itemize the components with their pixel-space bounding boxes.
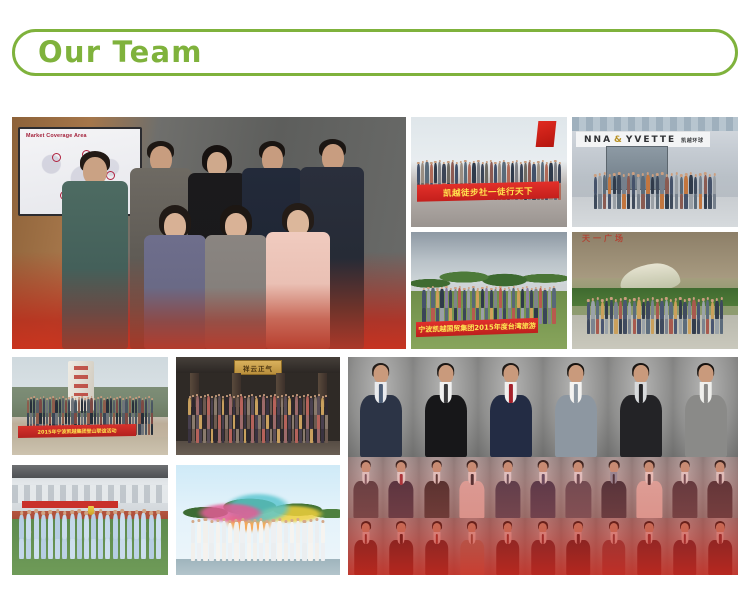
crowd-figure xyxy=(427,289,430,308)
crowd-figure xyxy=(199,398,202,415)
crowd-figure xyxy=(55,513,60,539)
crowd-figure-head xyxy=(321,520,324,524)
crowd-figure-head xyxy=(322,396,324,398)
crowd-figure-head xyxy=(237,395,239,397)
crowd-figure-head xyxy=(627,173,629,176)
crowd-figure-head xyxy=(503,160,505,163)
crowd-figure-head xyxy=(711,299,713,302)
crowd-figure-head xyxy=(511,161,513,164)
crowd-figure xyxy=(485,163,488,183)
crowd-figure-head xyxy=(554,160,556,163)
crowd-figure-head xyxy=(530,288,532,291)
portrait-cell xyxy=(596,518,631,575)
crowd-figure-head xyxy=(481,287,483,290)
crowd-figure-head xyxy=(661,172,663,175)
crowd-figure-head xyxy=(62,396,64,398)
crowd-figure-head xyxy=(592,298,594,301)
crowd-figure-head xyxy=(537,161,539,164)
crowd-figure-head xyxy=(690,172,692,175)
crowd-figure xyxy=(308,540,312,561)
crowd-figure xyxy=(537,163,540,183)
crowd-figure-head xyxy=(427,287,429,290)
screen-title: Market Coverage Area xyxy=(26,133,87,139)
crowd-figure-head xyxy=(601,299,603,302)
crowd-figure-head xyxy=(240,394,242,396)
crowd-figure-head xyxy=(520,162,522,165)
portrait-cell xyxy=(383,518,418,575)
crowd-figure-head xyxy=(77,509,81,513)
crowd-figure-head xyxy=(637,174,639,177)
crowd-figure xyxy=(617,175,620,194)
crowd-figure-head xyxy=(546,162,548,165)
crowd-figure xyxy=(675,175,678,194)
crowd-figure-head xyxy=(315,518,318,522)
crowd-figure-head xyxy=(652,297,654,300)
crowd-figure xyxy=(502,162,505,183)
crowd-figure xyxy=(558,164,561,183)
person-figure xyxy=(60,151,132,349)
crowd-figure-head xyxy=(126,397,128,399)
crowd-figure xyxy=(228,523,232,543)
crowd-figure-head xyxy=(468,287,470,290)
crowd-figure-head xyxy=(204,518,207,522)
crowd-figure-head xyxy=(210,520,213,524)
crowd-figure xyxy=(458,288,461,308)
crowd-figure-head xyxy=(517,288,519,291)
crowd-figure xyxy=(512,288,515,308)
crowd-figure-head xyxy=(49,510,53,514)
portrait-cell xyxy=(383,457,418,518)
crowd-figure-head xyxy=(709,174,711,177)
crowd-figure-head xyxy=(533,162,535,165)
crowd-figure xyxy=(116,399,118,413)
portrait-body xyxy=(555,395,597,457)
crowd-figure xyxy=(605,301,608,319)
crowd-figure xyxy=(613,176,616,194)
crowd-figure-head xyxy=(129,396,131,398)
crowd-figure xyxy=(59,399,61,413)
crowd-figure xyxy=(192,397,195,415)
photo-storefront-group: NNA&YVETTE凯越环球 xyxy=(572,117,738,227)
crowd-figure-head xyxy=(599,173,601,176)
crowd-figure xyxy=(442,164,445,183)
crowd-figure xyxy=(460,163,463,183)
portrait-body xyxy=(389,540,413,575)
portrait-body xyxy=(601,481,626,518)
crowd-figure-head xyxy=(207,394,209,396)
crowd-figure xyxy=(715,301,718,319)
crowd-figure xyxy=(656,176,659,194)
crowd-figure-head xyxy=(211,396,213,398)
crowd-figure-head xyxy=(68,397,70,399)
crowd-figure-head xyxy=(63,511,67,515)
crowd-figure xyxy=(591,301,594,319)
trophy-icon xyxy=(88,506,94,515)
crowd-figure-head xyxy=(494,162,496,165)
crowd-figure xyxy=(191,541,195,561)
crowd-figure-head xyxy=(513,286,515,289)
crowd-figure xyxy=(481,289,484,308)
hall-floor xyxy=(176,441,340,455)
crowd-figure xyxy=(110,398,112,413)
crowd-figure xyxy=(694,192,697,209)
crowd-figure xyxy=(688,301,691,319)
portrait-cell xyxy=(632,457,667,518)
crowd-figure-head xyxy=(292,395,294,397)
portrait-body xyxy=(531,540,555,575)
crowd-figure-head xyxy=(477,288,479,291)
photo-color-run xyxy=(176,465,340,575)
crowd-figure xyxy=(284,396,287,415)
crowd-figure xyxy=(665,192,668,209)
crowd-figure-head xyxy=(113,510,117,514)
crowd-figure-head xyxy=(106,511,110,515)
crowd-figure-head xyxy=(671,173,673,176)
crowd-figure-head xyxy=(647,298,649,301)
gilded-plaque: 祥云正气 xyxy=(234,360,282,375)
portrait-tie xyxy=(435,534,437,544)
crowd-figure xyxy=(463,290,466,308)
crowd-figure-head xyxy=(20,511,24,515)
crowd-figure xyxy=(151,400,153,413)
crowd-figure xyxy=(284,523,288,543)
portrait-row-2 xyxy=(348,457,738,518)
portrait-tie xyxy=(443,384,447,403)
crowd-figure xyxy=(545,164,548,183)
crowd-figure xyxy=(310,398,313,415)
crowd-figure-head xyxy=(229,520,232,524)
stand-canopy xyxy=(12,465,168,478)
crowd-figure-head xyxy=(460,161,462,164)
crowd-figure-head xyxy=(247,520,250,524)
portrait-cell xyxy=(348,518,383,575)
crowd-line xyxy=(12,513,168,539)
crowd-figure xyxy=(660,301,663,319)
crowd-figure xyxy=(552,288,555,308)
crowd-figure xyxy=(46,400,48,413)
crowd-figure-head xyxy=(33,396,35,398)
portrait-cell xyxy=(632,518,667,575)
crowd-figure xyxy=(431,288,434,308)
crowd-figure xyxy=(422,290,425,308)
crowd-figure-head xyxy=(253,519,256,523)
crowd-figure xyxy=(292,397,295,415)
crowd-figure-head xyxy=(714,173,716,176)
crowd-figure-head xyxy=(284,520,287,524)
crowd-figure xyxy=(598,176,601,194)
glass-curtain-wall xyxy=(572,117,738,131)
portrait-body xyxy=(638,540,662,575)
portrait-head xyxy=(698,365,713,383)
crowd-figure-head xyxy=(288,396,290,398)
crowd-figure xyxy=(520,164,523,183)
portrait-cell xyxy=(419,518,454,575)
brand-signboard: NNA&YVETTE凯越环球 xyxy=(576,131,710,147)
portrait-row-3 xyxy=(348,518,738,575)
portrait-tie xyxy=(613,474,616,485)
crowd-figure-head xyxy=(259,395,261,397)
crowd-figure xyxy=(105,515,110,539)
crowd-figure xyxy=(596,300,599,319)
crowd-figure xyxy=(30,399,32,413)
crowd-figure-head xyxy=(624,297,626,300)
crowd-figure xyxy=(679,300,682,319)
crowd-figure-head xyxy=(704,172,706,175)
crowd-figure xyxy=(587,302,590,319)
crowd-figure-head xyxy=(674,298,676,301)
crowd-figure-head xyxy=(608,174,610,177)
crowd-figure-head xyxy=(499,286,501,289)
crowd-figure xyxy=(36,400,38,413)
crowd-figure xyxy=(234,540,238,561)
crowd-figure xyxy=(302,523,306,543)
crowd-figure xyxy=(271,522,275,543)
crowd-figure xyxy=(485,288,488,308)
crowd-figure xyxy=(622,192,625,209)
crowd-figure xyxy=(633,301,636,319)
crowd-figure-head xyxy=(661,298,663,301)
portrait-tie xyxy=(703,384,707,403)
crowd-figure-head xyxy=(473,161,475,164)
crowd-figure-head xyxy=(604,172,606,175)
portrait-cell xyxy=(348,357,413,457)
crowd-figure xyxy=(464,162,467,183)
portrait-cell xyxy=(525,457,560,518)
crowd-figure xyxy=(120,513,125,539)
portrait-body xyxy=(496,540,520,575)
crowd-figure xyxy=(41,515,46,539)
crowd-figure-head xyxy=(189,396,191,398)
crowd-figure xyxy=(122,400,124,413)
crowd-figure xyxy=(656,317,659,334)
crowd-figure xyxy=(623,300,626,319)
crowd-figure-head xyxy=(84,398,86,400)
crowd-figure-head xyxy=(443,162,445,165)
portrait-body xyxy=(495,481,520,518)
crowd-figure xyxy=(608,177,611,194)
crowd-figure xyxy=(665,177,668,194)
crowd-figure xyxy=(98,513,103,539)
crowd-figure-head xyxy=(459,286,461,289)
crowd-figure-head xyxy=(278,518,281,522)
portrait-tie xyxy=(613,534,615,544)
crowd-line xyxy=(12,398,168,413)
crowd-figure-head xyxy=(100,396,102,398)
crowd-figure xyxy=(253,540,257,561)
crowd-figure-head xyxy=(490,160,492,163)
crowd-figure-head xyxy=(445,286,447,289)
crowd-figure-head xyxy=(139,396,141,398)
crowd-figure-head xyxy=(56,509,60,513)
crowd-line xyxy=(411,162,567,183)
crowd-figure-head xyxy=(508,287,510,290)
photo-hiking-outing: 凯越徒步社一徒行天下 xyxy=(411,117,567,227)
crowd-figure-head xyxy=(27,510,31,514)
crowd-figure-head xyxy=(41,511,45,515)
crowd-figure-head xyxy=(693,297,695,300)
crowd-figure-head xyxy=(436,288,438,291)
national-flag xyxy=(536,121,557,147)
crowd-figure-head xyxy=(450,288,452,291)
banner-text: 凯越徒步社一徒行天下 xyxy=(443,184,533,198)
crowd-figure xyxy=(680,192,683,209)
portrait-cell xyxy=(667,457,702,518)
crowd-figure-head xyxy=(198,519,201,523)
crowd-figure-head xyxy=(81,396,83,398)
portrait-tie xyxy=(471,474,474,485)
crowd-figure-head xyxy=(40,397,42,399)
crowd-figure xyxy=(288,398,291,415)
crowd-figure xyxy=(594,177,597,194)
photo-taiwan-trip: 宁波凯越国贸集团2015年度台湾旅游 xyxy=(411,232,567,349)
crowd-figure-head xyxy=(241,518,244,522)
ampersand-icon: & xyxy=(614,135,624,145)
crowd-figure xyxy=(641,176,644,194)
portrait-body xyxy=(530,481,555,518)
crowd-figure xyxy=(548,289,551,308)
crowd-figure-head xyxy=(70,510,74,514)
crowd-figure-head xyxy=(56,398,58,400)
crowd-figure xyxy=(277,398,280,415)
plaque-text: 祥云正气 xyxy=(243,363,273,373)
crowd-figures xyxy=(572,292,738,334)
crowd-figure-head xyxy=(439,160,441,163)
crowd-figure xyxy=(33,398,35,413)
crowd-figure xyxy=(129,398,131,413)
crowd-figure-head xyxy=(145,397,147,399)
crowd-figure-head xyxy=(266,396,268,398)
crowd-figure-head xyxy=(434,161,436,164)
crowd-figure-head xyxy=(716,298,718,301)
crowd-figure-head xyxy=(426,160,428,163)
person-figure xyxy=(266,203,330,349)
crowd-figure xyxy=(532,164,535,183)
crowd-figure-head xyxy=(550,161,552,164)
portrait-body xyxy=(602,540,626,575)
crowd-figure-head xyxy=(702,298,704,301)
portrait-cell xyxy=(454,457,489,518)
portrait-head xyxy=(503,365,518,383)
crowd-figure xyxy=(290,522,294,543)
crowd-line xyxy=(176,396,340,415)
crowd-figure-head xyxy=(116,397,118,399)
event-banner: 2015年宁波凯越集团登山联谊活动 xyxy=(18,424,136,438)
crowd-figure xyxy=(55,400,57,413)
crowd-figure xyxy=(84,515,89,539)
crowd-figure xyxy=(247,397,250,415)
crowd-figure xyxy=(711,317,714,334)
crowd-figure-head xyxy=(229,394,231,396)
crowd-figure xyxy=(113,400,115,413)
crowd-figure-head xyxy=(618,172,620,175)
crowd-figures xyxy=(572,169,738,209)
crowd-figure-head xyxy=(216,519,219,523)
crowd-figure-head xyxy=(75,398,77,400)
photo-monument-group: 2015年宁波凯越集团登山联谊活动 xyxy=(12,357,168,455)
crowd-figure-head xyxy=(477,160,479,163)
crowd-figure-head xyxy=(142,509,146,513)
crowd-figure-head xyxy=(685,173,687,176)
portrait-tie xyxy=(648,534,650,544)
person-figure xyxy=(205,205,267,349)
crowd-figure-head xyxy=(587,299,589,302)
crowd-figure xyxy=(417,164,420,183)
portrait-body xyxy=(672,481,697,518)
crowd-figure-head xyxy=(110,396,112,398)
crowd-figure xyxy=(720,300,723,319)
crowd-figure xyxy=(222,398,225,415)
portrait-cell xyxy=(673,357,738,457)
person-figure xyxy=(144,205,206,349)
portrait-cell xyxy=(490,457,525,518)
crowd-figure xyxy=(119,398,121,413)
crowd-figure xyxy=(451,162,454,183)
crowd-figure-head xyxy=(37,398,39,400)
crowd-figure-head xyxy=(463,288,465,291)
crowd-figure-head xyxy=(619,298,621,301)
crowd-figure-head xyxy=(281,395,283,397)
crowd-figure-head xyxy=(423,288,425,291)
portrait-cell xyxy=(525,518,560,575)
crowd-figure-head xyxy=(417,162,419,165)
crowd-figure-head xyxy=(107,397,109,399)
photo-team-office: Market Coverage Area xyxy=(12,117,406,349)
photo-park-sculpture: 天一广场 xyxy=(572,232,738,349)
section-header: Our Team xyxy=(12,29,738,76)
crowd-figure xyxy=(628,302,631,319)
crowd-figure-head xyxy=(441,287,443,290)
crowd-figure-head xyxy=(665,297,667,300)
crowd-figure xyxy=(52,398,54,413)
crowd-figure xyxy=(637,300,640,319)
portrait-cell xyxy=(596,457,631,518)
crowd-figure-head xyxy=(486,286,488,289)
crowd-figure xyxy=(262,396,265,415)
portrait-body xyxy=(353,481,378,518)
portrait-row-1 xyxy=(348,357,738,457)
crowd-figure xyxy=(299,398,302,415)
portrait-tie xyxy=(400,474,403,485)
crowd-figure-head xyxy=(260,518,263,522)
crowd-figure xyxy=(651,192,654,209)
crowd-figure xyxy=(81,398,83,413)
crowd-figure xyxy=(74,400,76,413)
crowd-figure-head xyxy=(196,394,198,396)
crowd-figure-head xyxy=(132,398,134,400)
crowd-figure xyxy=(103,400,105,413)
crowd-figure-head xyxy=(642,173,644,176)
crowd-figure-head xyxy=(218,394,220,396)
crowd-figure-head xyxy=(272,519,275,523)
crowd-figure-head xyxy=(548,287,550,290)
crowd-figure xyxy=(472,163,475,183)
crowd-figure xyxy=(321,541,325,561)
crowd-figure xyxy=(207,396,210,415)
crowd-figure xyxy=(106,399,108,413)
portrait-body xyxy=(425,395,467,457)
crowd-figure xyxy=(669,302,672,319)
crowd-figure xyxy=(197,522,201,543)
crowd-figure xyxy=(494,164,497,183)
crowd-figure-head xyxy=(142,398,144,400)
sign-brand-1: NNA xyxy=(584,135,612,145)
crowd-figure-head xyxy=(553,286,555,289)
banner-text: 宁波凯越国贸集团2015年度台湾旅游 xyxy=(418,320,535,334)
crowd-figure xyxy=(517,290,520,308)
photo-soccer-team xyxy=(12,465,168,575)
crowd-figure xyxy=(247,523,251,543)
crowd-figure xyxy=(628,317,631,334)
